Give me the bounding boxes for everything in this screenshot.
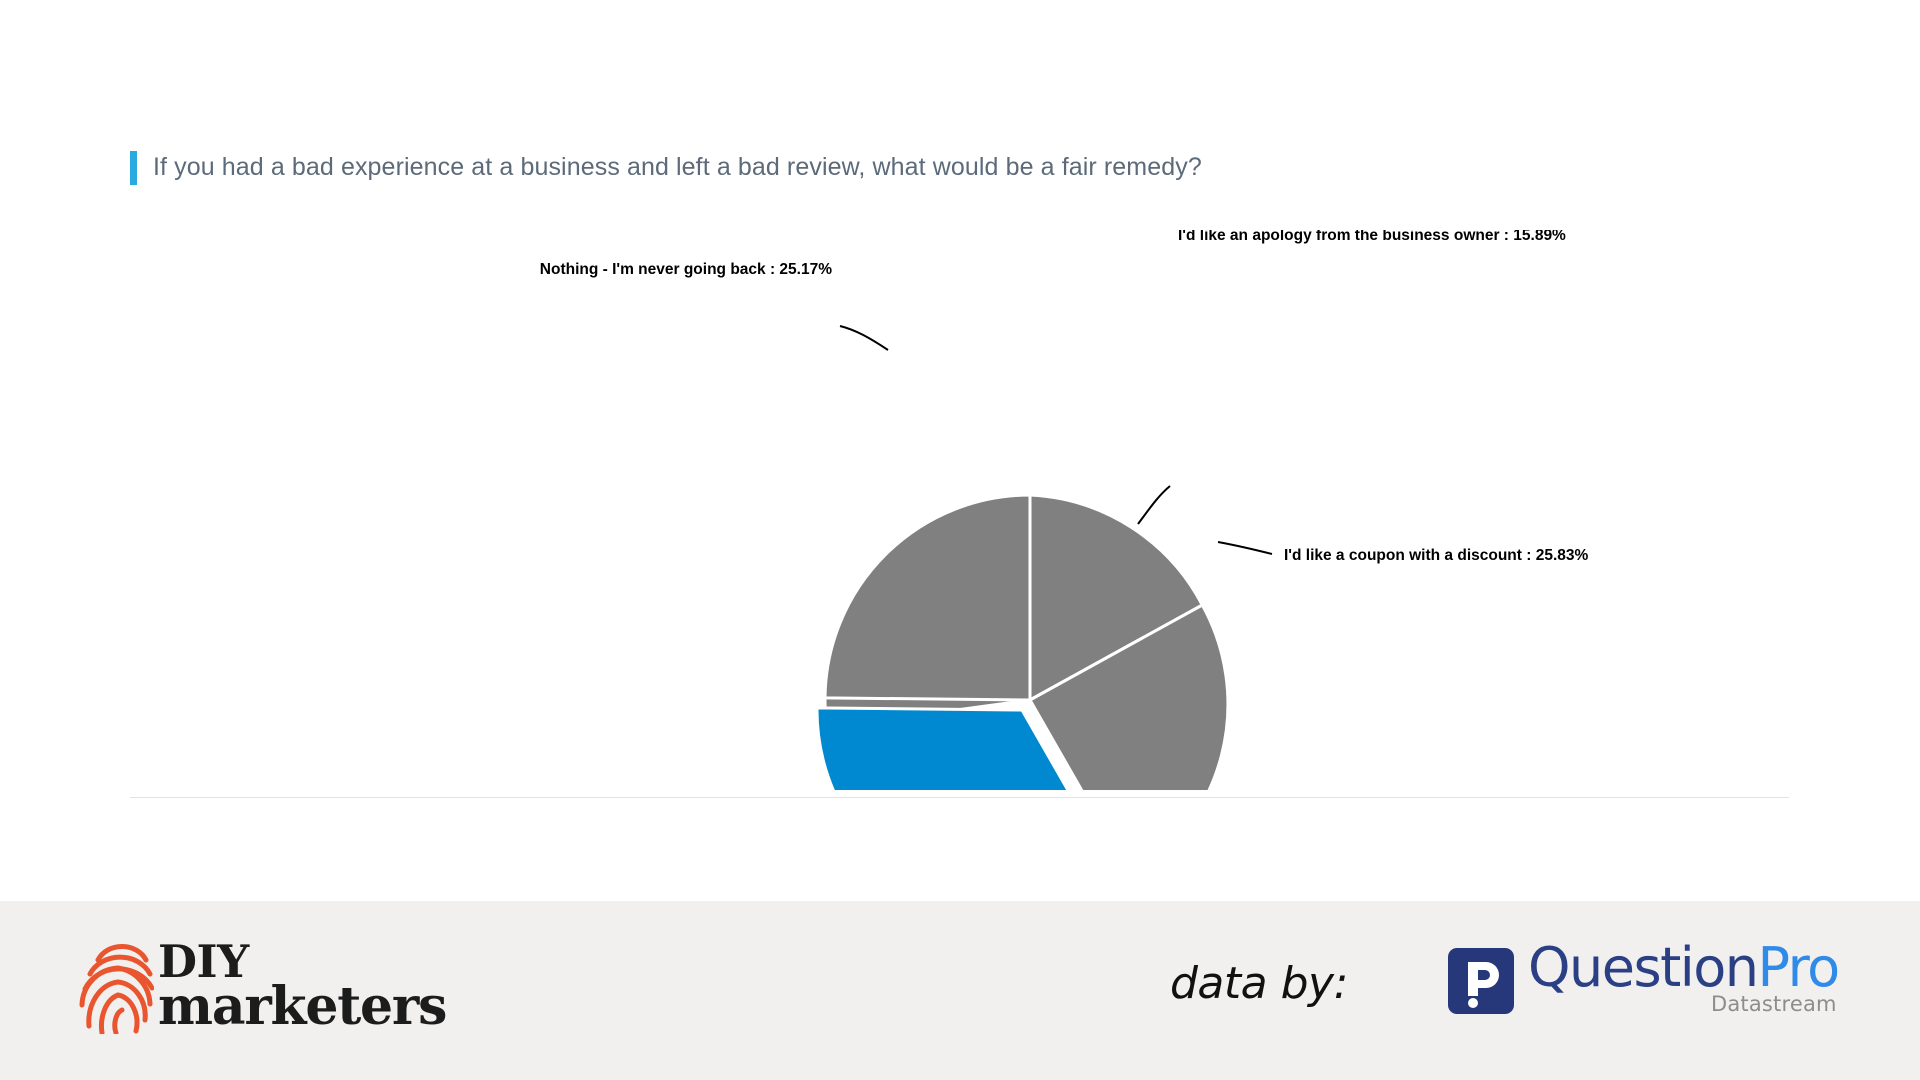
pie-slice-nothing-body[interactable] bbox=[825, 495, 1030, 700]
leader-line-nothing bbox=[840, 326, 888, 350]
pie-label-nothing: Nothing - I'm never going back : 25.17% bbox=[540, 261, 832, 278]
questionpro-logo[interactable]: QuestionPro Datastream bbox=[1448, 942, 1839, 1016]
fingerprint-icon bbox=[78, 938, 154, 1034]
data-by-label: data by: bbox=[1170, 958, 1348, 1009]
pie-label-apology: I'd like an apology from the business ow… bbox=[1178, 230, 1566, 244]
questionpro-name: QuestionPro bbox=[1528, 942, 1839, 994]
diy-logo-line2: marketers bbox=[158, 984, 446, 1030]
leader-line-coupon bbox=[1218, 542, 1272, 554]
pie-label-coupon: I'd like a coupon with a discount : 25.8… bbox=[1284, 547, 1588, 564]
pie-chart-svg: I'd like an apology from the business ow… bbox=[0, 230, 1920, 790]
slide-canvas: If you had a bad experience at a busines… bbox=[0, 0, 1920, 901]
section-divider bbox=[130, 797, 1789, 798]
accent-bar-icon bbox=[130, 151, 137, 185]
question-heading: If you had a bad experience at a busines… bbox=[130, 150, 1202, 185]
diy-marketers-logo[interactable]: DIY marketers bbox=[78, 938, 446, 1034]
questionpro-subtitle: Datastream bbox=[1711, 992, 1837, 1016]
leader-line-apology bbox=[1138, 486, 1170, 524]
page-title: If you had a bad experience at a busines… bbox=[153, 150, 1202, 184]
questionpro-wordmark: QuestionPro Datastream bbox=[1528, 942, 1839, 1016]
questionpro-name-part1: Question bbox=[1528, 936, 1758, 999]
pie-chart: I'd like an apology from the business ow… bbox=[0, 230, 1920, 790]
questionpro-name-part2: Pro bbox=[1758, 936, 1839, 999]
questionpro-badge-icon bbox=[1448, 948, 1514, 1014]
diy-wordmark: DIY marketers bbox=[158, 942, 446, 1029]
